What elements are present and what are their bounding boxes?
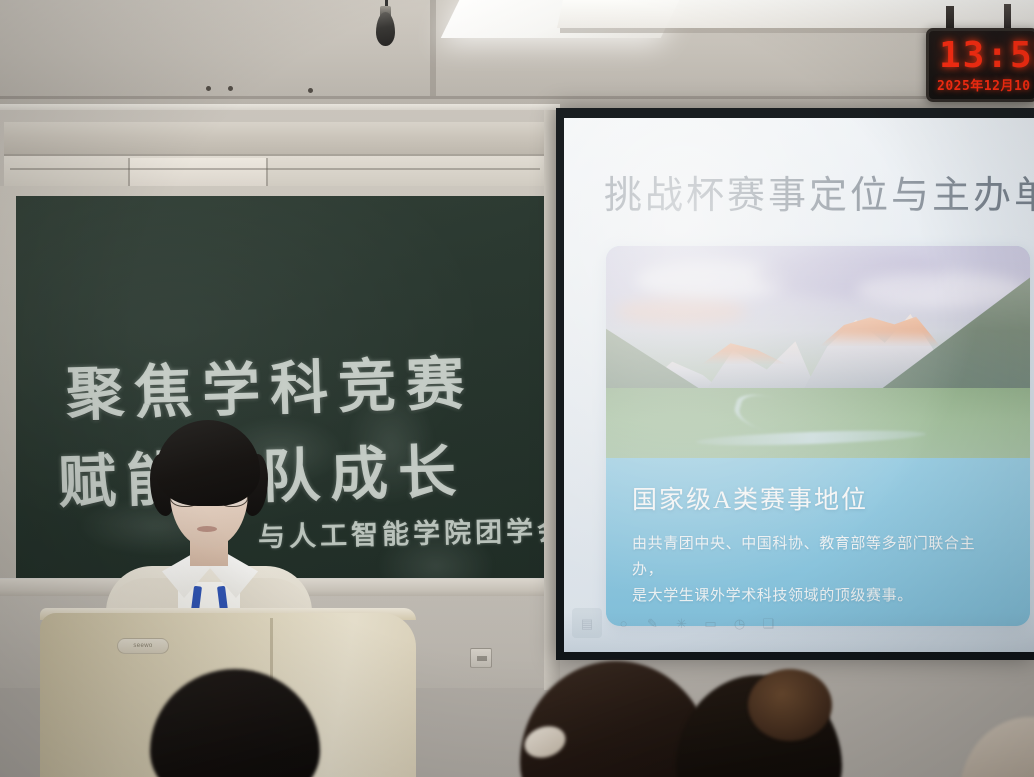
blackboard-rail-top: [4, 122, 550, 156]
card-body-line2: 是大学生课外学术科技领域的顶级赛事。: [632, 584, 1004, 610]
podium-brand-label: seewo: [133, 643, 152, 649]
screen-bottom-shadow: [564, 612, 1034, 652]
clock-time: 13:53: [939, 35, 1034, 76]
ceiling-fixture-dot: [308, 88, 313, 93]
slide-title: 挑战杯赛事定位与主办单位: [604, 164, 1034, 219]
ceiling-seam: [0, 96, 1034, 99]
hair-top: [156, 420, 260, 506]
hair-bun: [748, 669, 832, 741]
hanging-microphone-icon: [376, 12, 395, 46]
card-heading: 国家级A类赛事地位: [632, 480, 1004, 516]
ceiling-light-strip: [557, 0, 1034, 28]
blackboard-rail-line: [10, 168, 540, 170]
blackboard-heading-line1: 聚焦学科竞赛: [65, 336, 475, 431]
classroom-scene: 13:53 2025年12月10 聚焦学科竞赛 赋能团队成长 与人工智能学院团学…: [0, 0, 1034, 777]
blackboard-rail-middle: [4, 156, 550, 188]
ceiling: [0, 0, 1034, 118]
power-outlet-icon: [470, 648, 492, 668]
ceiling-fixture-dot: [228, 86, 233, 91]
presenter: [104, 420, 314, 630]
photo-overlay: [606, 246, 1030, 458]
podium-brand-plaque: seewo: [117, 638, 169, 654]
audience-head: [960, 717, 1034, 777]
card-body-line1: 由共青团中央、中国科协、教育部等多部门联合主办，: [632, 532, 1004, 584]
mouth: [197, 526, 217, 532]
slide-card-body: 国家级A类赛事地位 由共青团中央、中国科协、教育部等多部门联合主办， 是大学生课…: [606, 458, 1030, 626]
ceiling-beam: [430, 0, 436, 96]
clock-bracket: [946, 6, 954, 30]
projected-slide: 挑战杯赛事定位与主办单位 国家级A: [564, 118, 1034, 652]
slide-content-card: 国家级A类赛事地位 由共青团中央、中国科协、教育部等多部门联合主办， 是大学生课…: [606, 246, 1030, 626]
digital-wall-clock: 13:53 2025年12月10: [926, 28, 1034, 102]
clock-date: 2025年12月10: [937, 75, 1031, 94]
slide-photo: [606, 246, 1030, 458]
blackboard-rail-slot: [128, 158, 268, 186]
clock-bracket: [1004, 4, 1011, 30]
card-body-text: 由共青团中央、中国科协、教育部等多部门联合主办， 是大学生课外学术科技领域的顶级…: [632, 532, 1004, 609]
ceiling-fixture-dot: [206, 86, 211, 91]
